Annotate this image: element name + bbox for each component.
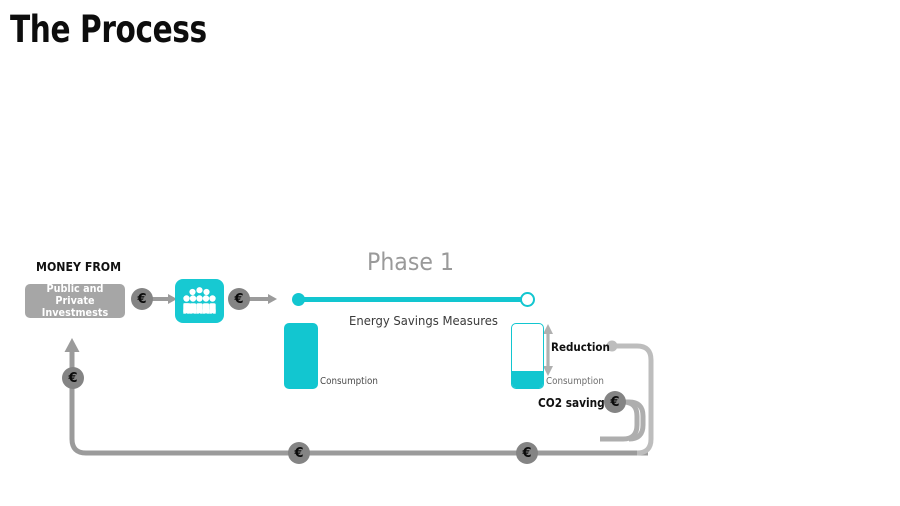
consumption-bar-before-label: Consumption bbox=[320, 376, 378, 387]
investments-source-box[interactable]: Public and Private Investmests bbox=[25, 284, 125, 318]
phase-timeline-bar bbox=[300, 297, 528, 302]
investments-box-label-line1: Public and Private bbox=[47, 283, 104, 307]
reduction-label: Reduction bbox=[551, 340, 610, 354]
people-group-box[interactable] bbox=[175, 279, 224, 323]
euro-coin-icon-return-vertical: € bbox=[62, 367, 84, 389]
euro-coin-icon-return-bottom-right: € bbox=[516, 442, 538, 464]
co2-savings-label: CO2 savings bbox=[538, 396, 611, 410]
euro-coin-icon-co2-savings: € bbox=[604, 391, 626, 413]
euro-coin-icon-investments-to-people: € bbox=[131, 288, 153, 310]
energy-savings-measures-label: Energy Savings Measures bbox=[349, 313, 498, 328]
phase-title: Phase 1 bbox=[367, 248, 454, 276]
consumption-bar-after bbox=[511, 323, 544, 389]
investments-box-label: Public and Private Investmests bbox=[29, 283, 121, 319]
investments-box-label-line2: Investmests bbox=[42, 307, 108, 319]
consumption-bar-after-fill bbox=[512, 371, 543, 388]
arrow-people-to-timeline bbox=[248, 294, 277, 304]
arrow-investments-to-people bbox=[152, 294, 177, 304]
euro-coin-icon-return-bottom-left: € bbox=[288, 442, 310, 464]
euro-coin-icon-people-to-phase: € bbox=[228, 288, 250, 310]
people-group-icon bbox=[175, 279, 224, 323]
page-title: The Process bbox=[10, 8, 207, 51]
money-from-heading: MONEY FROM bbox=[36, 259, 121, 274]
consumption-bar-before bbox=[284, 323, 318, 389]
timeline-start-dot[interactable] bbox=[292, 293, 305, 306]
timeline-end-dot[interactable] bbox=[520, 292, 535, 307]
consumption-bar-after-label: Consumption bbox=[546, 376, 604, 387]
slide-canvas: The Process bbox=[0, 0, 900, 506]
